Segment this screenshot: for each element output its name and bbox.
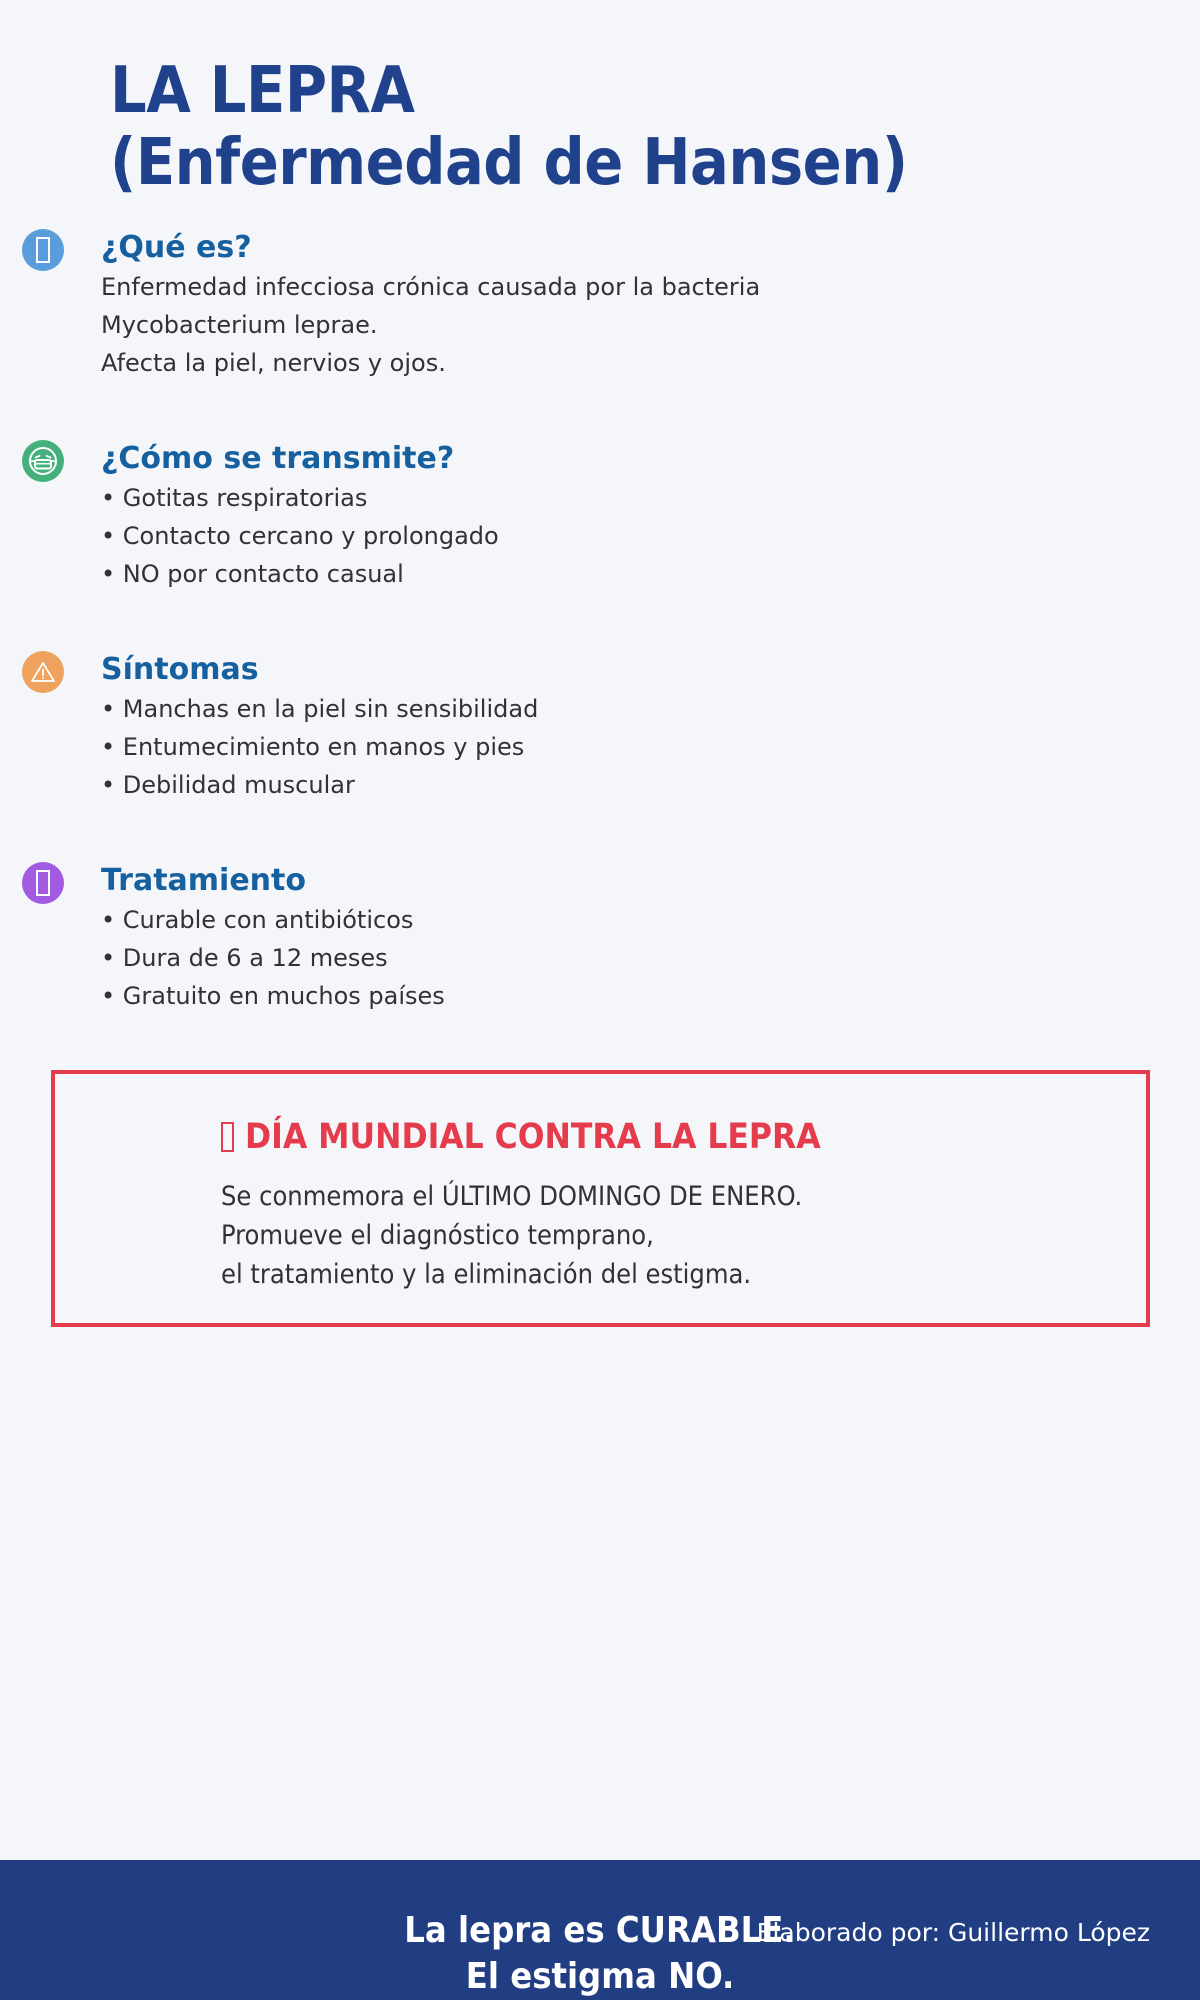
- body-line: • Manchas en la piel sin sensibilidad: [101, 690, 538, 728]
- footer-slogan-line-2: El estigma NO.: [0, 1954, 1200, 2000]
- tofu-box-icon: [221, 1122, 234, 1152]
- footer-bar: La lepra es CURABLE. El estigma NO. Elab…: [0, 1860, 1200, 2000]
- callout-title: DÍA MUNDIAL CONTRA LA LEPRA: [221, 1116, 821, 1158]
- section-body: Enfermedad infecciosa crónica causada po…: [101, 268, 760, 382]
- section-body: • Manchas en la piel sin sensibilidad • …: [101, 690, 538, 804]
- warning-triangle-icon: [22, 651, 64, 693]
- body-line: • Dura de 6 a 12 meses: [101, 939, 445, 977]
- footer-credit: Elaborado por: Guillermo López: [757, 1917, 1150, 1949]
- body-line: Enfermedad infecciosa crónica causada po…: [101, 268, 760, 306]
- section-heading: Síntomas: [101, 651, 259, 689]
- body-line: • NO por contacto casual: [101, 555, 499, 593]
- body-line: • Debilidad muscular: [101, 766, 538, 804]
- section-body: • Gotitas respiratorias • Contacto cerca…: [101, 479, 499, 593]
- face-with-medical-mask-icon: [22, 440, 64, 482]
- page-title: LA LEPRA (Enfermedad de Hansen): [110, 55, 1170, 199]
- body-line: • Contacto cercano y prolongado: [101, 517, 499, 555]
- body-line: • Entumecimiento en manos y pies: [101, 728, 538, 766]
- tofu-box-icon: [22, 229, 64, 271]
- body-line: • Gotitas respiratorias: [101, 479, 499, 517]
- tofu-box-icon: [22, 862, 64, 904]
- section-heading: Tratamiento: [101, 862, 306, 900]
- body-line: Mycobacterium leprae.: [101, 306, 760, 344]
- section-heading: ¿Qué es?: [101, 229, 252, 267]
- callout-line: Promueve el diagnóstico temprano,: [221, 1216, 802, 1255]
- callout-body: Se conmemora el ÚLTIMO DOMINGO DE ENERO.…: [221, 1177, 802, 1294]
- section-heading: ¿Cómo se transmite?: [101, 440, 454, 478]
- world-leprosy-day-callout: DÍA MUNDIAL CONTRA LA LEPRA Se conmemora…: [51, 1070, 1150, 1327]
- body-line: • Gratuito en muchos países: [101, 977, 445, 1015]
- title-line-1: LA LEPRA: [110, 55, 1170, 127]
- section-body: • Curable con antibióticos • Dura de 6 a…: [101, 901, 445, 1015]
- callout-line: el tratamiento y la eliminación del esti…: [221, 1255, 802, 1294]
- body-line: Afecta la piel, nervios y ojos.: [101, 344, 760, 382]
- callout-line: Se conmemora el ÚLTIMO DOMINGO DE ENERO.: [221, 1177, 802, 1216]
- body-line: • Curable con antibióticos: [101, 901, 445, 939]
- title-line-2: (Enfermedad de Hansen): [110, 127, 1170, 199]
- callout-title-text: DÍA MUNDIAL CONTRA LA LEPRA: [245, 1117, 821, 1157]
